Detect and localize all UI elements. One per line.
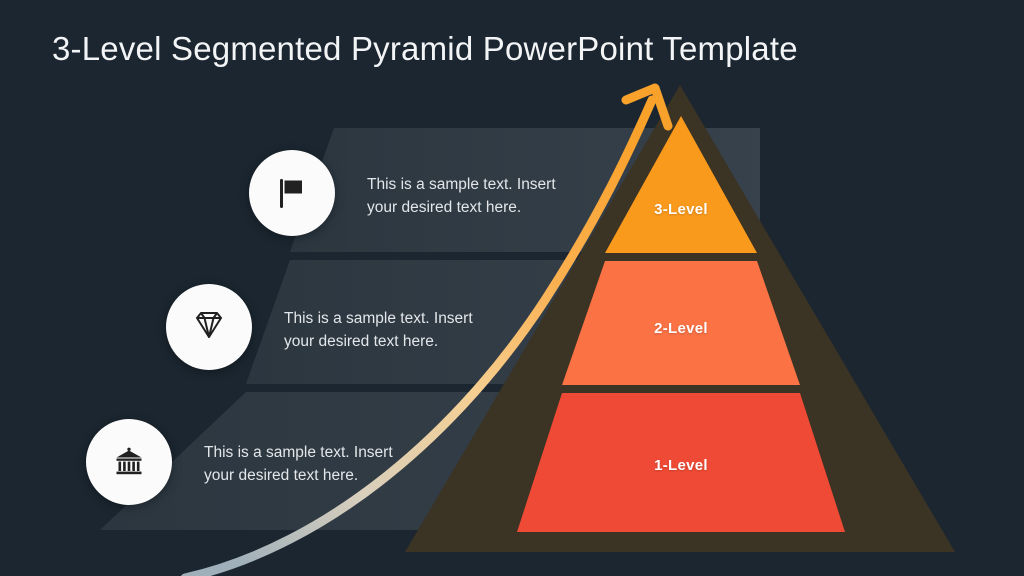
icon-badge-bank[interactable]: [86, 419, 172, 505]
icon-badge-diamond[interactable]: [166, 284, 252, 370]
pyramid-label-3: 3-Level: [654, 201, 708, 218]
slide-canvas: 3-Level Segmented Pyramid PowerPoint Tem…: [0, 0, 1024, 576]
pyramid-label-1: 1-Level: [654, 457, 708, 474]
icon-badge-flag[interactable]: [249, 150, 335, 236]
bank-icon: [108, 441, 150, 483]
flag-icon: [272, 173, 312, 213]
pyramid-label-2: 2-Level: [654, 320, 708, 337]
diamond-icon: [188, 306, 230, 348]
